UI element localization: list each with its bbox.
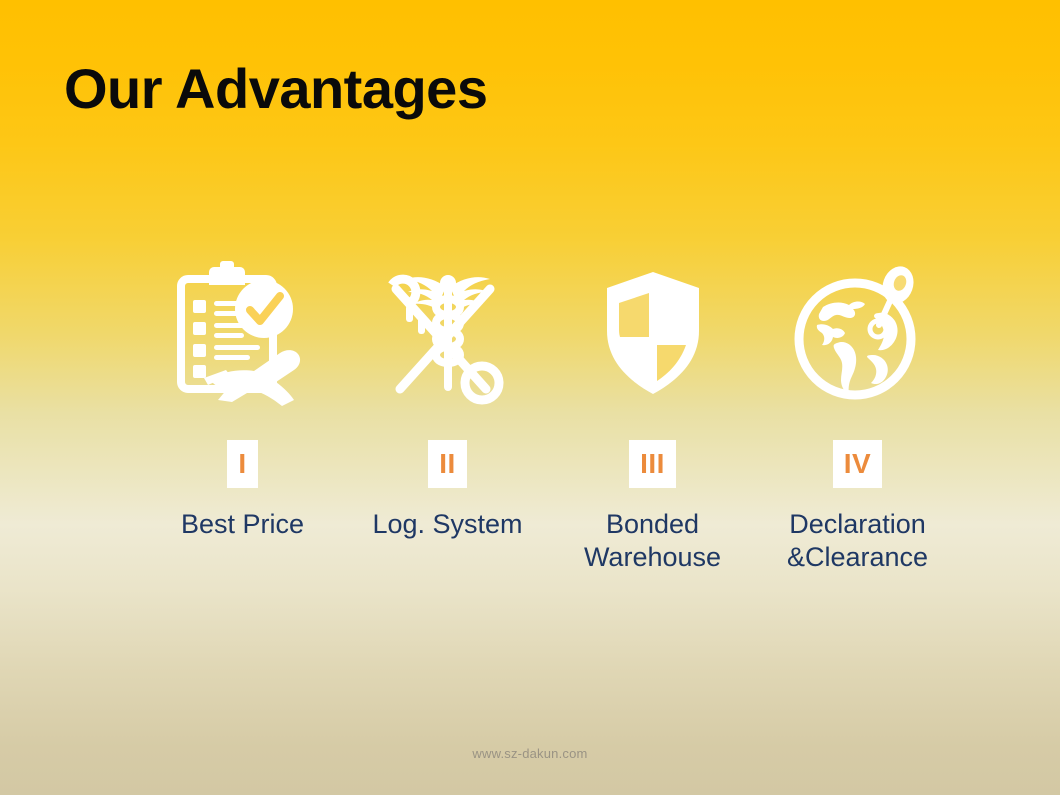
badge-numeral-1: I: [227, 440, 257, 488]
badge-numeral-2: II: [428, 440, 467, 488]
badge-numeral-3: III: [629, 440, 676, 488]
advantages-row: I Best Price: [140, 258, 960, 574]
advantage-item-4[interactable]: IV Declaration &Clearance: [755, 258, 960, 574]
advantage-item-3[interactable]: III Bonded Warehouse: [550, 258, 755, 574]
caduceus-crossed-keys-icon: [378, 258, 518, 408]
clipboard-check-airplane-icon: [168, 258, 318, 408]
page-title: Our Advantages: [64, 58, 487, 120]
advantage-caption-1: Best Price: [181, 508, 304, 541]
badge-numeral-4-text: IV: [844, 450, 871, 478]
globe-pin-icon: [793, 258, 923, 408]
footer-website: www.sz-dakun.com: [0, 746, 1060, 761]
badge-numeral-3-text: III: [640, 450, 665, 478]
advantage-item-1[interactable]: I Best Price: [140, 258, 345, 541]
slide: Our Advantages: [0, 0, 1060, 795]
badge-numeral-4: IV: [833, 440, 882, 488]
badge-numeral-2-text: II: [439, 450, 456, 478]
badge-numeral-1-text: I: [238, 450, 246, 478]
advantage-caption-4: Declaration &Clearance: [787, 508, 928, 574]
shield-icon: [603, 258, 703, 408]
advantage-caption-2: Log. System: [372, 508, 522, 541]
advantage-caption-3: Bonded Warehouse: [584, 508, 721, 574]
advantage-item-2[interactable]: II Log. System: [345, 258, 550, 541]
